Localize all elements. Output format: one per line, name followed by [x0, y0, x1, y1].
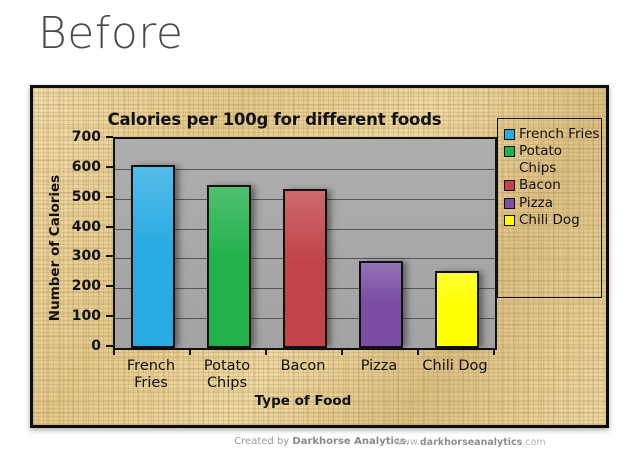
legend-item: Potato Chips: [504, 143, 601, 176]
footer-url-domain: darkhorseanalytics: [420, 437, 522, 448]
y-tick-label: 200: [57, 279, 101, 293]
legend-item-label: Bacon: [519, 177, 561, 193]
x-tick-mark: [189, 348, 191, 355]
footer-credit-prefix: Created by: [234, 436, 292, 447]
x-tick-label-line: Chips: [172, 375, 282, 392]
bar: [359, 261, 403, 348]
bar-slot: [267, 139, 343, 348]
y-axis-title: Number of Calories: [47, 163, 63, 333]
legend-item-label: Chili Dog: [519, 212, 580, 228]
bar-series: [115, 139, 495, 348]
legend-item: Chili Dog: [504, 212, 601, 228]
y-tick-label: 100: [57, 309, 101, 323]
legend-swatch-icon: [504, 180, 515, 191]
bar-slot: [419, 139, 495, 348]
legend-item: Pizza: [504, 195, 601, 211]
x-tick-mark: [493, 348, 495, 355]
chart-figure: Calories per 100g for different foods Nu…: [30, 85, 609, 428]
bar-slot: [115, 139, 191, 348]
footer-url-prefix: www.: [394, 437, 419, 448]
x-tick-label: Chili Dog: [400, 358, 510, 375]
legend-swatch-icon: [504, 215, 515, 226]
legend-swatch-icon: [504, 198, 515, 209]
legend-swatch-icon: [504, 146, 515, 157]
legend-swatch-icon: [504, 129, 515, 140]
bar-slot: [343, 139, 419, 348]
y-tick-label: 600: [57, 160, 101, 174]
y-tick-label: 300: [57, 249, 101, 263]
y-tick-mark: [106, 315, 113, 317]
footer-url: www.darkhorseanalytics.com: [345, 437, 595, 448]
y-tick-label: 500: [57, 190, 101, 204]
legend-item: French Fries: [504, 126, 601, 142]
x-tick-mark: [113, 348, 115, 355]
bar: [435, 271, 479, 348]
y-tick-mark: [106, 166, 113, 168]
bar: [131, 165, 175, 348]
bar: [207, 185, 251, 348]
x-tick-mark: [265, 348, 267, 355]
y-tick-label: 0: [57, 339, 101, 353]
legend-item-label: Potato Chips: [519, 143, 601, 176]
y-tick-mark: [106, 196, 113, 198]
plot-area: [113, 137, 497, 350]
legend-item: Bacon: [504, 177, 601, 193]
bar-slot: [191, 139, 267, 348]
y-tick-mark: [106, 345, 113, 347]
x-tick-mark: [417, 348, 419, 355]
x-axis-title: Type of Food: [113, 393, 493, 409]
legend-item-label: French Fries: [519, 126, 600, 142]
y-tick-mark: [106, 136, 113, 138]
y-tick-mark: [106, 255, 113, 257]
chart-legend: French FriesPotato ChipsBaconPizzaChili …: [497, 118, 602, 298]
y-tick-label: 400: [57, 220, 101, 234]
y-tick-label: 700: [57, 130, 101, 144]
legend-item-label: Pizza: [519, 195, 553, 211]
bar: [283, 189, 327, 348]
y-tick-mark: [106, 285, 113, 287]
x-tick-label-line: Chili Dog: [400, 358, 510, 375]
x-tick-mark: [341, 348, 343, 355]
footer-url-tld: .com: [522, 437, 545, 448]
y-tick-mark: [106, 226, 113, 228]
page-title: Before: [38, 12, 183, 56]
